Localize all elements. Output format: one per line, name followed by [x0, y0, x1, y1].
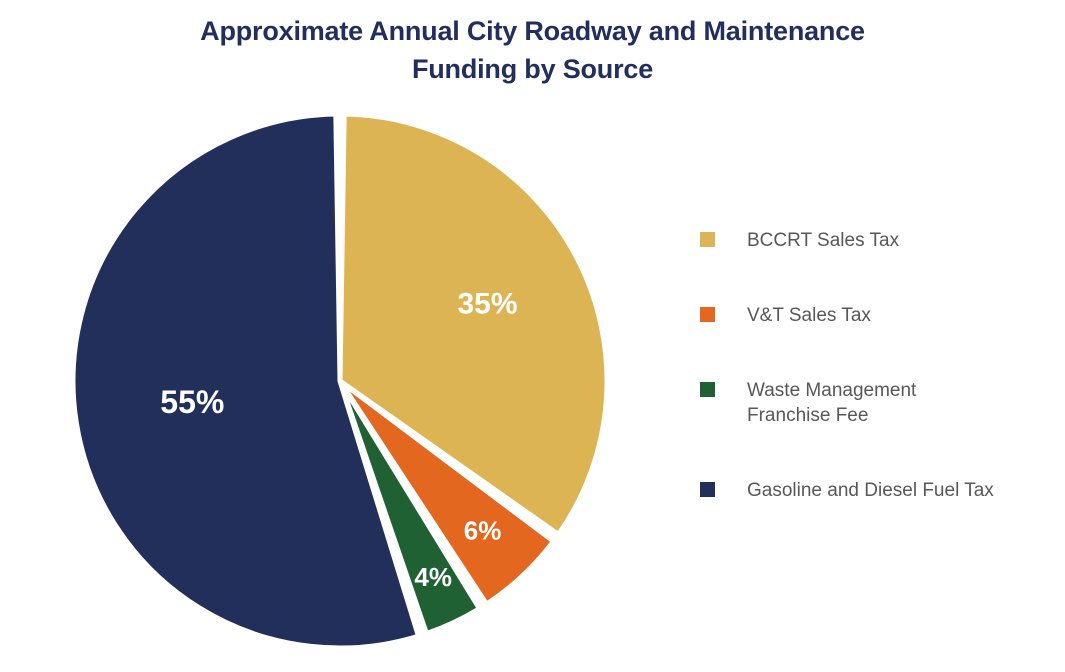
legend-item[interactable]: BCCRT Sales Tax	[700, 228, 1055, 253]
chart-legend: BCCRT Sales TaxV&T Sales TaxWaste Manage…	[700, 228, 1055, 503]
pie-slice-value-label: 4%	[414, 562, 452, 592]
pie-slices-group	[73, 114, 607, 648]
pie-slice-value-label: 55%	[160, 384, 224, 420]
pie-svg: 35%6%4%55%	[0, 0, 700, 672]
legend-item-label: BCCRT Sales Tax	[747, 228, 899, 253]
legend-item-label: V&T Sales Tax	[747, 303, 871, 328]
legend-item[interactable]: Waste Management Franchise Fee	[700, 378, 1055, 428]
pie-plot-area: 35%6%4%55%	[0, 0, 700, 672]
legend-item[interactable]: V&T Sales Tax	[700, 303, 1055, 328]
legend-swatch-icon	[700, 232, 715, 247]
pie-slice-value-label: 35%	[457, 288, 517, 321]
legend-swatch-icon	[700, 382, 715, 397]
legend-item[interactable]: Gasoline and Diesel Fuel Tax	[700, 478, 1055, 503]
pie-slice-value-label: 6%	[464, 516, 502, 546]
legend-item-label: Waste Management Franchise Fee	[747, 378, 916, 428]
legend-swatch-icon	[700, 307, 715, 322]
legend-swatch-icon	[700, 482, 715, 497]
pie-chart-figure: Approximate Annual City Roadway and Main…	[0, 0, 1065, 672]
legend-item-label: Gasoline and Diesel Fuel Tax	[747, 478, 994, 503]
